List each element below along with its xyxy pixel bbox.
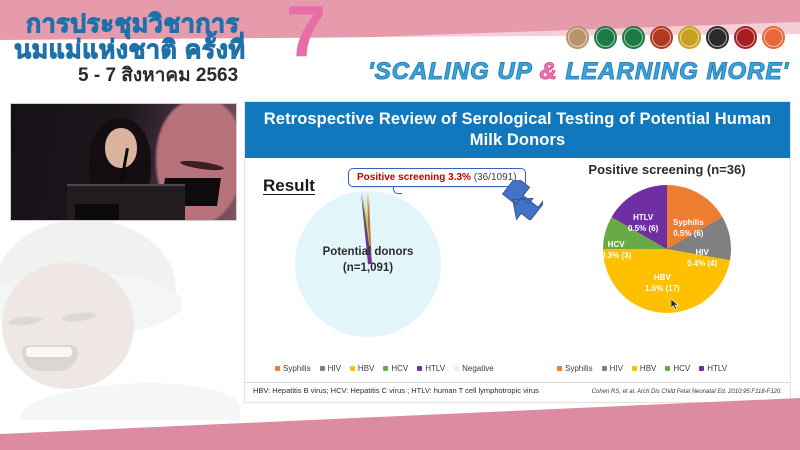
- slide-body: Result Positive screening 3.3% (36/1091)…: [245, 158, 790, 397]
- pie-label-hiv-value: 0.4% (4): [687, 259, 717, 269]
- conference-edition-number: 7: [286, 0, 326, 68]
- legend-item-hiv-right: HIV: [602, 364, 623, 373]
- child-watermark-image: [0, 205, 250, 420]
- presentation-screenshot: การประชุมวิชาการ นมแม่แห่งชาติ ครั้งที่ …: [0, 0, 800, 450]
- pie-chart-positive-screening: Syphilis 0.5% (6) HIV 0.4% (4) HBV 1.6% …: [603, 185, 731, 313]
- tagline-ampersand: &: [540, 58, 558, 85]
- pie-label-hcv: HCV 0.3% (3): [601, 240, 631, 261]
- pie-label-syphilis: Syphilis 0.5% (6): [673, 218, 704, 239]
- logo-thaihealth-icon: [762, 26, 785, 49]
- pie-label-htlv-name: HTLV: [628, 213, 658, 223]
- footnote-abbreviations: HBV: Hepatitis B virus; HCV: Hepatitis C…: [253, 386, 539, 395]
- legend-item-hiv: HIV: [320, 364, 341, 373]
- legend-item-htlv-right: HTLV: [699, 364, 727, 373]
- pie-chart-potential-donors: Potential donors (n=1,091): [295, 191, 441, 337]
- pie-right-title: Positive screening (n=36): [545, 162, 789, 177]
- pie-label-htlv: HTLV 0.5% (6): [628, 213, 658, 234]
- slide-footnote: HBV: Hepatitis B virus; HCV: Hepatitis C…: [245, 382, 790, 395]
- pie-left-center-label: Potential donors (n=1,091): [295, 245, 441, 276]
- pie-label-htlv-value: 0.5% (6): [628, 224, 658, 234]
- legend-item-hbv: HBV: [350, 364, 374, 373]
- legend-item-hcv-right: HCV: [665, 364, 690, 373]
- slide-panel: Retrospective Review of Serological Test…: [244, 101, 791, 403]
- speaker-face: [105, 128, 137, 168]
- pie-label-syphilis-value: 0.5% (6): [673, 229, 704, 239]
- logo-royal-emblem-icon: [650, 26, 673, 49]
- footnote-citation: Cohen RS, et al. Arch Dis Child Fetal Ne…: [592, 389, 782, 395]
- pie-left-subtitle: (n=1,091): [295, 261, 441, 277]
- logo-foundation-icon: [566, 26, 589, 49]
- legend-item-hcv: HCV: [383, 364, 408, 373]
- logo-royal-crown-icon: [678, 26, 701, 49]
- legend-item-syphilis: Syphilis: [275, 364, 311, 373]
- logo-red-seal-icon: [734, 26, 757, 49]
- pie-label-hcv-name: HCV: [601, 240, 631, 250]
- legend-positive-screening: Syphilis HIV HBV HCV HTLV: [557, 364, 727, 373]
- speaker-video-feed[interactable]: [10, 103, 237, 221]
- transition-arrow-icon: [499, 180, 543, 220]
- legend-item-syphilis-right: Syphilis: [557, 364, 593, 373]
- pie-label-hbv-name: HBV: [645, 273, 680, 283]
- sponsor-logos: [566, 26, 785, 49]
- legend-item-htlv: HTLV: [417, 364, 445, 373]
- mouse-cursor-icon: [671, 299, 680, 310]
- slide-title: Retrospective Review of Serological Test…: [245, 102, 790, 158]
- pie-label-hbv: HBV 1.6% (17): [645, 273, 680, 294]
- result-heading: Result: [263, 176, 315, 196]
- legend-potential-donors: Syphilis HIV HBV HCV HTLV Negative: [275, 364, 494, 373]
- podium-front-panel: [75, 204, 119, 220]
- pie-label-hiv-name: HIV: [687, 248, 717, 258]
- tagline-part2: LEARNING MORE': [558, 58, 789, 85]
- logo-university-icon: [706, 26, 729, 49]
- pie-label-hiv: HIV 0.4% (4): [687, 248, 717, 269]
- pie-label-hbv-value: 1.6% (17): [645, 284, 680, 294]
- pie-label-syphilis-name: Syphilis: [673, 218, 704, 228]
- legend-item-hbv-right: HBV: [632, 364, 656, 373]
- tagline-part1: 'SCALING UP: [368, 58, 540, 85]
- logo-ministry-health-icon: [594, 26, 617, 49]
- pie-label-hcv-value: 0.3% (3): [601, 251, 631, 261]
- conference-tagline: 'SCALING UP & LEARNING MORE': [368, 58, 789, 86]
- callout-pointer: [393, 186, 402, 194]
- callout-highlight-text: Positive screening 3.3%: [357, 172, 471, 183]
- conference-date: 5 - 7 สิงหาคม 2563: [78, 60, 238, 90]
- pie-left-title: Potential donors: [295, 245, 441, 261]
- logo-thai-health-green-icon: [622, 26, 645, 49]
- legend-item-negative: Negative: [454, 364, 494, 373]
